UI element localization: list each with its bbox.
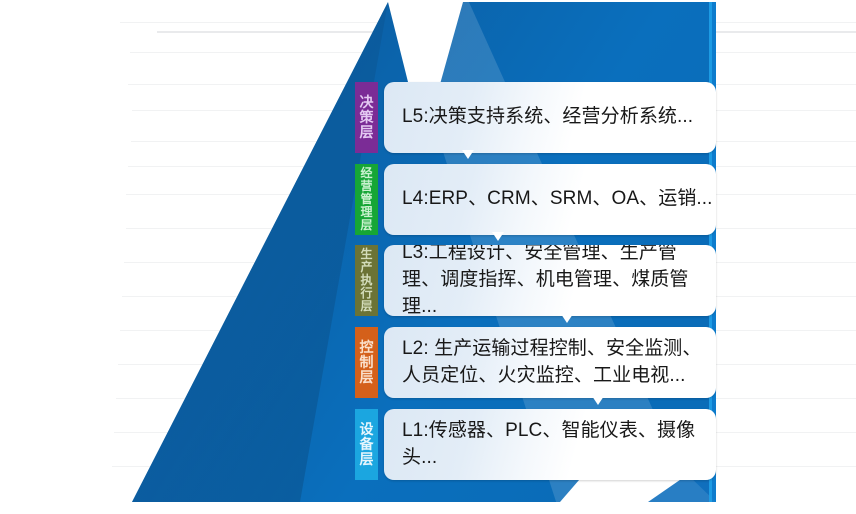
level-chip-decision: 决 策 层 — [355, 82, 378, 153]
level-card-l2[interactable]: L2: 生产运输过程控制、安全监测、人员定位、火灾监控、工业电视... — [384, 327, 716, 398]
level-text-l2: L2: 生产运输过程控制、安全监测、人员定位、火灾监控、工业电视... — [384, 336, 716, 390]
level-text-l5: L5:决策支持系统、经营分析系统... — [384, 104, 693, 131]
chip-char: 层 — [360, 370, 374, 385]
chip-char: 层 — [360, 300, 372, 313]
flow-arrow-icon — [462, 150, 474, 159]
flow-arrow-icon — [492, 232, 504, 241]
chip-char: 策 — [360, 110, 374, 125]
chip-char: 决 — [360, 95, 374, 110]
level-text-l3: L3:工程设计、安全管理、生产管理、调度指挥、机电管理、煤质管理... — [384, 245, 716, 316]
pyramid-level-l5[interactable]: 决 策 层 L5:决策支持系统、经营分析系统... — [355, 82, 716, 153]
chip-char: 层 — [360, 452, 374, 467]
pyramid-level-l3[interactable]: 生 产 执 行 层 L3:工程设计、安全管理、生产管理、调度指挥、机电管理、煤质… — [355, 245, 716, 316]
level-card-l1[interactable]: L1:传感器、PLC、智能仪表、摄像头... — [384, 409, 716, 480]
chip-char: 行 — [360, 287, 372, 300]
chip-char: 设 — [360, 422, 374, 437]
pyramid-level-l2[interactable]: 控 制 层 L2: 生产运输过程控制、安全监测、人员定位、火灾监控、工业电视..… — [355, 327, 716, 398]
pyramid-level-l4[interactable]: 经 营 管 理 层 L4:ERP、CRM、SRM、OA、运销... — [355, 164, 716, 235]
chip-char: 制 — [360, 355, 374, 370]
level-chip-business-management: 经 营 管 理 层 — [355, 164, 378, 235]
chip-char: 理 — [360, 206, 372, 219]
pyramid-level-l1[interactable]: 设 备 层 L1:传感器、PLC、智能仪表、摄像头... — [355, 409, 716, 480]
level-card-l3[interactable]: L3:工程设计、安全管理、生产管理、调度指挥、机电管理、煤质管理... — [384, 245, 716, 316]
pyramid-diagram-canvas: 决 策 层 L5:决策支持系统、经营分析系统... 经 营 管 理 层 L4:E… — [0, 0, 856, 514]
pyramid-levels: 决 策 层 L5:决策支持系统、经营分析系统... 经 营 管 理 层 L4:E… — [0, 0, 856, 514]
flow-arrow-icon — [561, 314, 573, 323]
chip-char: 控 — [360, 340, 374, 355]
level-card-l4[interactable]: L4:ERP、CRM、SRM、OA、运销... — [384, 164, 716, 235]
level-text-l1: L1:传感器、PLC、智能仪表、摄像头... — [384, 418, 716, 472]
flow-arrow-icon — [592, 396, 604, 405]
chip-char: 层 — [360, 219, 372, 232]
level-chip-device: 设 备 层 — [355, 409, 378, 480]
level-card-l5[interactable]: L5:决策支持系统、经营分析系统... — [384, 82, 716, 153]
level-chip-control: 控 制 层 — [355, 327, 378, 398]
level-text-l4: L4:ERP、CRM、SRM、OA、运销... — [384, 186, 713, 213]
chip-char: 备 — [360, 437, 374, 452]
chip-char: 层 — [360, 125, 374, 140]
level-chip-production-execution: 生 产 执 行 层 — [355, 245, 378, 316]
